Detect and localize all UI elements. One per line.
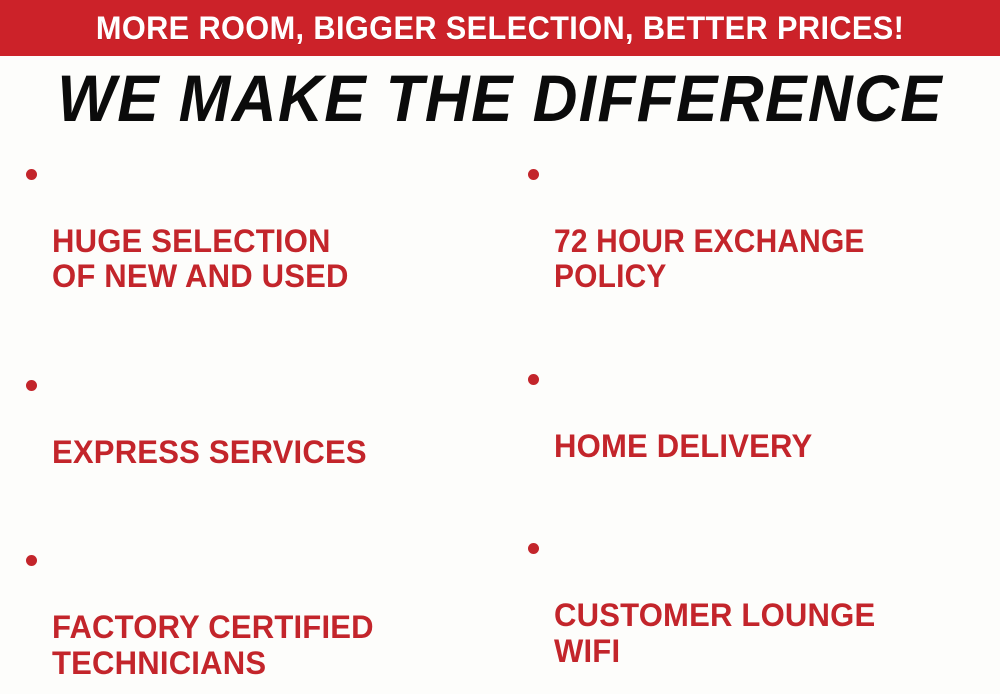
list-item: CUSTOMER LOUNGE WIFI bbox=[520, 526, 998, 694]
bullet-dot-icon bbox=[528, 543, 539, 554]
list-item: FACTORY CERTIFIED TECHNICIANS bbox=[18, 538, 494, 694]
headline-text: MORE ROOM, BIGGER SELECTION, BETTER PRIC… bbox=[96, 12, 904, 44]
bullet-item-label: FACTORY CERTIFIED TECHNICIANS bbox=[52, 610, 481, 682]
benefits-column-right: 72 HOUR EXCHANGE POLICY HOME DELIVERY CU… bbox=[500, 152, 1000, 694]
promo-banner: MORE ROOM, BIGGER SELECTION, BETTER PRIC… bbox=[0, 0, 1000, 694]
page-title: WE MAKE THE DIFFERENCE bbox=[57, 65, 943, 131]
bullet-item-label: HUGE SELECTION OF NEW AND USED bbox=[52, 224, 481, 296]
bullet-item-label: CUSTOMER LOUNGE WIFI bbox=[554, 598, 985, 670]
benefits-column-left: HUGE SELECTION OF NEW AND USED EXPRESS S… bbox=[0, 152, 500, 694]
list-item: EXPRESS SERVICES bbox=[18, 363, 494, 506]
list-item: HUGE SELECTION OF NEW AND USED bbox=[18, 152, 494, 331]
bullet-dot-icon bbox=[528, 374, 539, 385]
list-item: HOME DELIVERY bbox=[520, 357, 998, 500]
bullet-item-label: EXPRESS SERVICES bbox=[52, 435, 481, 471]
bullet-item-label: HOME DELIVERY bbox=[554, 429, 985, 465]
headline-bar: MORE ROOM, BIGGER SELECTION, BETTER PRIC… bbox=[0, 0, 1000, 56]
bullet-dot-icon bbox=[26, 169, 37, 180]
benefits-columns: HUGE SELECTION OF NEW AND USED EXPRESS S… bbox=[0, 152, 1000, 694]
bullet-item-label: 72 HOUR EXCHANGE POLICY bbox=[554, 224, 969, 296]
title-block: WE MAKE THE DIFFERENCE bbox=[0, 62, 1000, 134]
bullet-dot-icon bbox=[26, 380, 37, 391]
bullet-list-right: 72 HOUR EXCHANGE POLICY HOME DELIVERY CU… bbox=[520, 152, 998, 694]
list-item: 72 HOUR EXCHANGE POLICY bbox=[520, 152, 998, 331]
bullet-dot-icon bbox=[528, 169, 539, 180]
bullet-dot-icon bbox=[26, 555, 37, 566]
bullet-list-left: HUGE SELECTION OF NEW AND USED EXPRESS S… bbox=[18, 152, 494, 694]
